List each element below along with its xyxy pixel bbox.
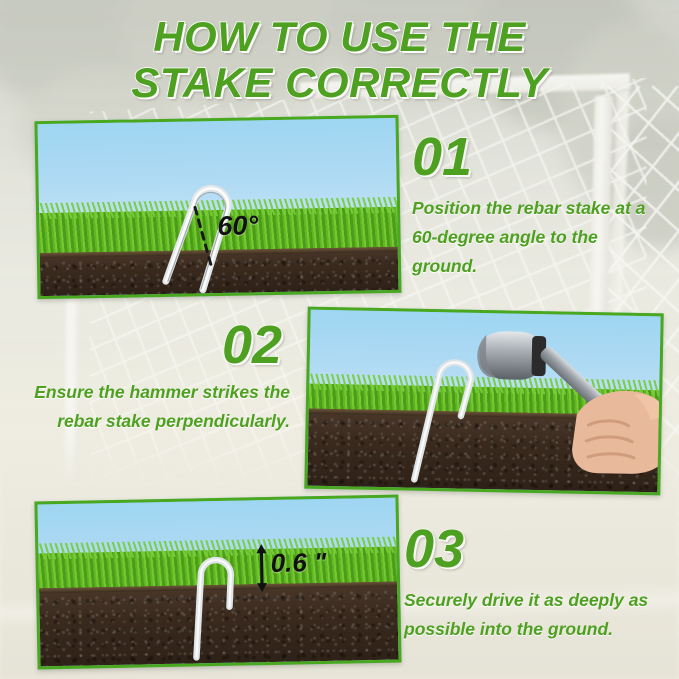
step-3-description: Securely drive it as deeply as possible … <box>404 586 666 644</box>
step-2-photo-panel <box>304 307 663 496</box>
page-title: HOW TO USE THE STAKE CORRECTLY <box>0 14 679 106</box>
step-2-description: Ensure the hammer strikes the rebar stak… <box>20 378 290 436</box>
step-2-number: 02 <box>222 318 282 372</box>
step-3-number: 03 <box>404 522 464 576</box>
hand-icon <box>563 375 660 492</box>
step-1-photo-inner: 60° <box>38 118 399 296</box>
step-1-number: 01 <box>412 130 472 184</box>
step-2-photo-inner <box>307 310 660 493</box>
step-1-photo-panel: 60° <box>34 115 401 299</box>
step-3-photo-inner: 0.6 " <box>37 498 398 667</box>
angle-annotation-60deg: 60° <box>217 210 258 242</box>
depth-annotation-inches: 0.6 " <box>270 547 326 579</box>
infographic-poster: HOW TO USE THE STAKE CORRECTLY <box>0 0 679 679</box>
step-1-description: Position the rebar stake at a 60-degree … <box>412 194 664 281</box>
step-3-photo-panel: 0.6 " <box>34 495 401 670</box>
